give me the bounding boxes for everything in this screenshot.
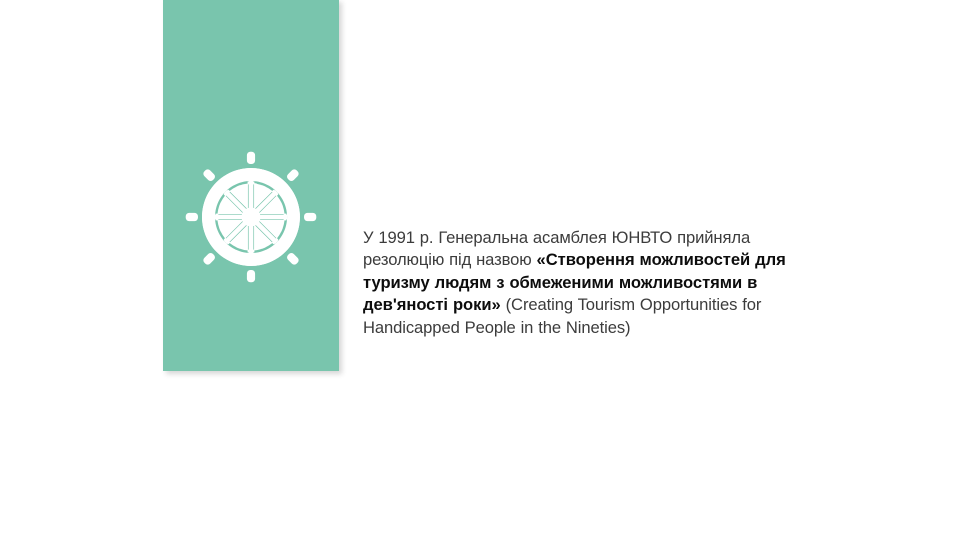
body-paragraph: У 1991 р. Генеральна асамблея ЮНВТО прий… <box>363 227 819 339</box>
slide-canvas: У 1991 р. Генеральна асамблея ЮНВТО прий… <box>0 0 960 540</box>
image-panel <box>163 0 339 371</box>
ship-helm-icon <box>183 149 319 285</box>
